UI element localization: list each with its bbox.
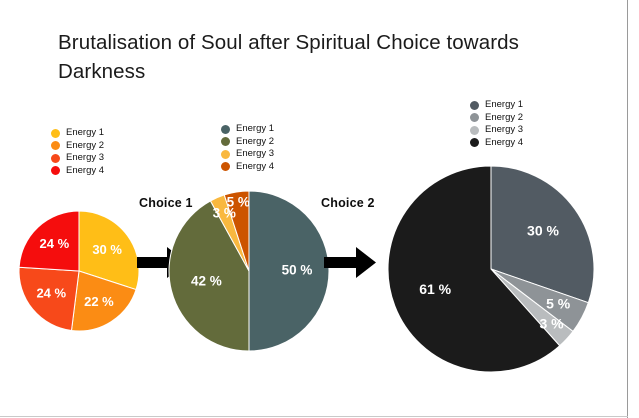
legend-swatch-icon — [221, 150, 230, 159]
legend-item-label: Energy 1 — [66, 127, 104, 140]
legend-item-label: Energy 3 — [66, 152, 104, 165]
legend-swatch-icon — [51, 154, 60, 163]
pie-slice-label: 3 % — [539, 316, 564, 332]
pie-slice-label: 24 % — [36, 285, 66, 300]
legend-initial: Energy 1Energy 2Energy 3Energy 4 — [51, 127, 104, 177]
pie-svg: 50 %42 %3 %5 % — [163, 185, 335, 357]
pie-slice-label: 22 % — [84, 294, 114, 309]
legend-swatch-icon — [470, 126, 479, 135]
legend-swatch-icon — [470, 138, 479, 147]
legend-swatch-icon — [51, 166, 60, 175]
pie-slice-label: 24 % — [40, 236, 70, 251]
legend-item-label: Energy 2 — [66, 140, 104, 153]
legend-item-label: Energy 4 — [66, 165, 104, 178]
legend-item: Energy 2 — [51, 140, 104, 153]
legend-item: Energy 1 — [470, 99, 523, 112]
legend-swatch-icon — [221, 162, 230, 171]
pie-slice-label: 30 % — [527, 223, 559, 239]
legend-item: Energy 3 — [51, 152, 104, 165]
legend-item: Energy 2 — [221, 136, 274, 149]
page-title: Brutalisation of Soul after Spiritual Ch… — [58, 28, 578, 86]
pie-chart-after-choice-2: 30 %5 %3 %61 % — [382, 160, 600, 378]
legend-item-label: Energy 3 — [485, 124, 523, 137]
pie-slice-label: 5 % — [546, 296, 571, 312]
pie-slice-label: 42 % — [191, 274, 222, 289]
choice-2-label: Choice 2 — [321, 196, 375, 210]
legend-item-label: Energy 3 — [236, 148, 274, 161]
legend-after-choice-2: Energy 1Energy 2Energy 3Energy 4 — [470, 99, 523, 149]
pie-svg: 30 %22 %24 %24 % — [13, 205, 145, 337]
legend-item: Energy 1 — [51, 127, 104, 140]
slide-canvas: Brutalisation of Soul after Spiritual Ch… — [0, 0, 627, 417]
legend-swatch-icon — [221, 125, 230, 134]
pie-chart-initial: 30 %22 %24 %24 % — [13, 205, 145, 337]
legend-item: Energy 4 — [51, 165, 104, 178]
legend-after-choice-1: Energy 1Energy 2Energy 3Energy 4 — [221, 123, 274, 173]
legend-swatch-icon — [470, 101, 479, 110]
page-margin-right — [628, 0, 639, 418]
pie-chart-after-choice-1: 50 %42 %3 %5 % — [163, 185, 335, 357]
arrow-right-icon — [324, 246, 376, 279]
legend-item: Energy 3 — [470, 124, 523, 137]
legend-swatch-icon — [51, 129, 60, 138]
pie-slice-label: 30 % — [92, 242, 122, 257]
legend-item: Energy 3 — [221, 148, 274, 161]
pie-slice-label: 61 % — [419, 281, 451, 297]
legend-item: Energy 4 — [221, 161, 274, 174]
legend-item-label: Energy 1 — [236, 123, 274, 136]
pie-svg: 30 %5 %3 %61 % — [382, 160, 600, 378]
legend-item: Energy 1 — [221, 123, 274, 136]
legend-item-label: Energy 2 — [236, 136, 274, 149]
pie-slice-label: 5 % — [227, 195, 250, 210]
legend-swatch-icon — [51, 141, 60, 150]
legend-item: Energy 2 — [470, 112, 523, 125]
legend-swatch-icon — [221, 137, 230, 146]
legend-item-label: Energy 2 — [485, 112, 523, 125]
legend-swatch-icon — [470, 113, 479, 122]
legend-item-label: Energy 4 — [485, 137, 523, 150]
legend-item-label: Energy 1 — [485, 99, 523, 112]
page-edge-bottom — [0, 416, 628, 417]
pie-slice-label: 50 % — [282, 263, 313, 278]
legend-item: Energy 4 — [470, 137, 523, 150]
legend-item-label: Energy 4 — [236, 161, 274, 174]
